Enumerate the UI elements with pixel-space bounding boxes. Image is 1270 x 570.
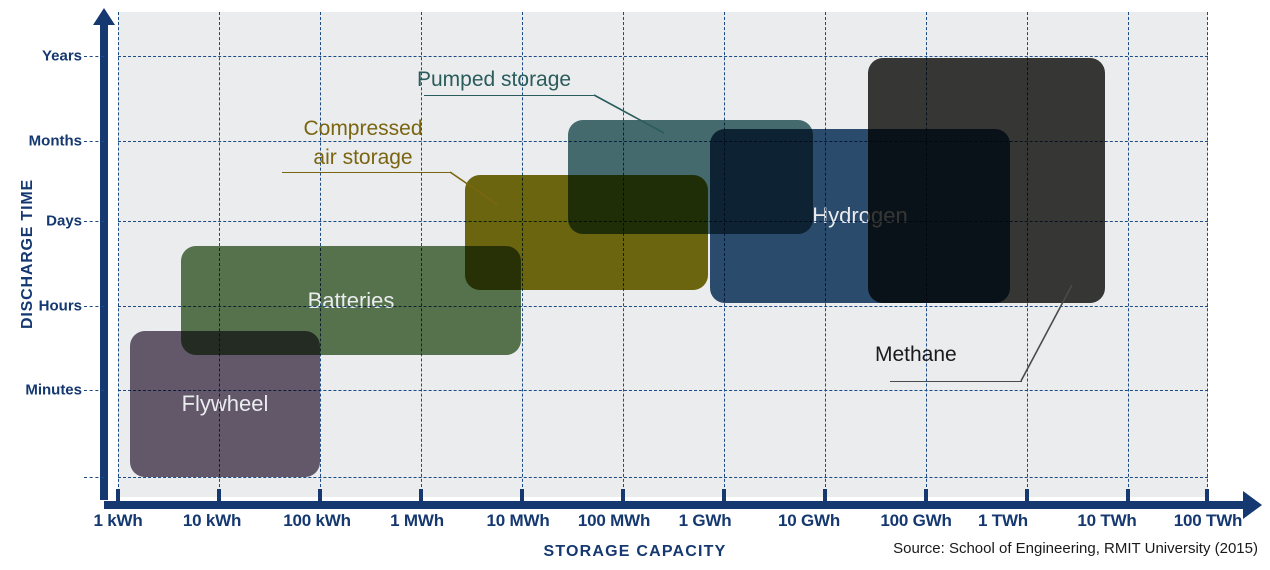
x-tick-1mwh	[419, 489, 423, 502]
y-axis-label-hours: Hours	[39, 298, 82, 315]
y-axis-title: DISCHARGE TIME	[19, 144, 37, 364]
plot-area: Batteries Flywheel Hydrogen	[118, 12, 1208, 497]
source-note: Source: School of Engineering, RMIT Univ…	[893, 540, 1258, 557]
y-axis-label-years: Years	[42, 48, 82, 65]
x-axis-label-1kwh: 1 kWh	[93, 511, 142, 531]
data-box-flywheel-label: Flywheel	[130, 391, 320, 417]
x-tick-10twh	[1126, 489, 1130, 502]
x-axis-label-10gwh: 10 GWh	[778, 511, 840, 531]
gridline-horizontal-years	[118, 56, 1208, 57]
y-axis-label-minutes: Minutes	[25, 382, 82, 399]
y-tick-years	[84, 56, 104, 57]
x-tick-1kwh	[116, 489, 120, 502]
x-tick-1twh	[1025, 489, 1029, 502]
gridline-vertical-1kwh	[118, 12, 119, 497]
x-axis-arrowhead	[1243, 491, 1262, 519]
y-tick-baseline	[84, 477, 104, 478]
data-box-hydrogen-label: Hydrogen	[710, 203, 1010, 229]
x-axis-label-10twh: 10 TWh	[1077, 511, 1136, 531]
annotation-pumped-storage-underline	[424, 95, 594, 96]
x-axis-line	[104, 501, 1247, 509]
x-tick-10mwh	[520, 489, 524, 502]
gridline-vertical-100twh	[1207, 12, 1208, 497]
x-tick-100gwh	[924, 489, 928, 502]
x-axis-label-10kwh: 10 kWh	[183, 511, 241, 531]
x-axis-label-1gwh: 1 GWh	[679, 511, 732, 531]
x-tick-100kwh	[318, 489, 322, 502]
annotation-methane-label: Methane	[875, 340, 957, 369]
annotation-methane-underline	[890, 381, 1022, 382]
annotation-compressed-air-underline	[282, 172, 450, 173]
x-axis-label-100kwh: 100 kWh	[283, 511, 351, 531]
data-box-hydrogen[interactable]: Hydrogen	[710, 129, 1010, 303]
gridline-horizontal-baseline	[118, 477, 1208, 478]
annotation-pumped-storage-label: Pumped storage	[417, 65, 571, 94]
chart-canvas: Batteries Flywheel Hydrogen Pumped stora…	[0, 0, 1270, 570]
y-axis-label-days: Days	[46, 213, 82, 230]
x-axis-label-100gwh: 100 GWh	[880, 511, 951, 531]
data-box-flywheel[interactable]: Flywheel	[130, 331, 320, 477]
annotation-compressed-air-label: Compressed air storage	[293, 114, 433, 172]
y-tick-minutes	[84, 390, 104, 391]
x-tick-10gwh	[823, 489, 827, 502]
y-axis-line	[100, 22, 108, 500]
data-box-batteries-label: Batteries	[181, 288, 521, 314]
x-axis-label-1twh: 1 TWh	[978, 511, 1028, 531]
x-axis-label-1mwh: 1 MWh	[390, 511, 444, 531]
x-tick-100mwh	[621, 489, 625, 502]
x-tick-10kwh	[217, 489, 221, 502]
x-axis-label-100twh: 100 TWh	[1174, 511, 1243, 531]
y-tick-hours	[84, 306, 104, 307]
y-tick-months	[84, 141, 104, 142]
gridline-vertical-10twh	[1128, 12, 1129, 497]
x-tick-100twh	[1205, 489, 1209, 502]
x-axis-label-10mwh: 10 MWh	[486, 511, 549, 531]
x-tick-1gwh	[722, 489, 726, 502]
x-axis-label-100mwh: 100 MWh	[578, 511, 650, 531]
y-tick-days	[84, 221, 104, 222]
